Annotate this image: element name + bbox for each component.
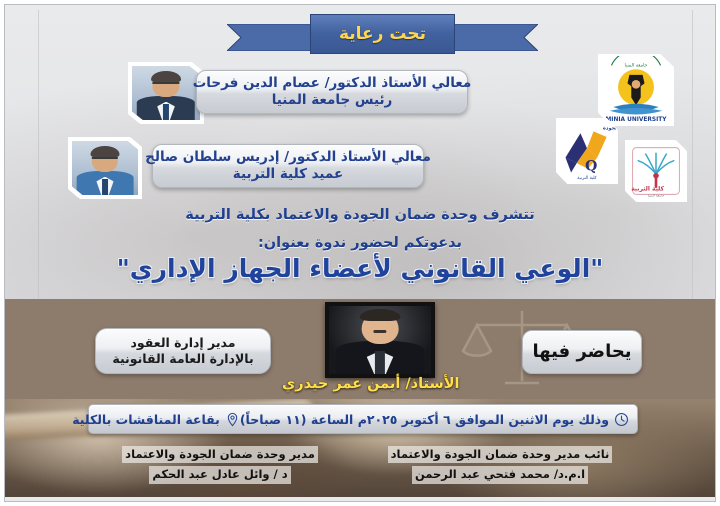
svg-text:وحدة الجودة: وحدة الجودة	[603, 125, 616, 131]
portrait-tie	[102, 179, 108, 195]
speaker-role-line-2: بالإدارة العامة القانونية	[112, 351, 253, 367]
event-venue-text: بقاعة المناقشات بالكلية	[72, 412, 220, 427]
signature-title-deputy: نائب مدير وحدة ضمان الجودة والاعتماد	[388, 446, 613, 463]
lecturer-label: يحاضر فيها	[532, 341, 631, 364]
patron-title-dean: عميد كلية التربية	[233, 166, 343, 183]
svg-text:كلية التربية: كلية التربية	[631, 186, 664, 193]
event-details-bar: وذلك يوم الاثنين الموافق ٦ أكتوبر ٢٠٢٥م …	[88, 404, 638, 434]
invitation-line-2: بدعوتكم لحضور ندوة بعنوان:	[110, 230, 610, 258]
portrait-image	[72, 141, 138, 195]
faculty-of-education-logo: كلية التربية جامعة المنيا	[625, 140, 687, 202]
seminar-poster: تحت رعاية معالي الأستاذ الدكتور/ عصام ال…	[0, 0, 720, 506]
svg-text:جامعة المنيا: جامعة المنيا	[648, 194, 664, 198]
portrait-image	[132, 66, 200, 120]
speaker-mustache	[373, 330, 386, 333]
signature-deputy-director: نائب مدير وحدة ضمان الجودة والاعتماد ا.م…	[385, 443, 615, 484]
svg-text:Q: Q	[585, 159, 597, 175]
portrait-glasses	[152, 82, 179, 86]
signature-title-director: مدير وحدة ضمان الجودة والاعتماد	[122, 446, 318, 463]
patron-plate-dean: معالي الأستاذ الدكتور/ إدريس سلطان صالح …	[152, 144, 424, 188]
seminar-title: "الوعي القانوني لأعضاء الجهاز الإداري"	[60, 255, 660, 283]
speaker-name: الأستاذ/ أيمن عمر حيدري	[282, 376, 532, 392]
patronage-ribbon: تحت رعاية	[290, 14, 475, 56]
clock-icon	[614, 412, 629, 427]
invitation-text: تتشرف وحدة ضمان الجودة والاعتماد بكلية ا…	[110, 202, 610, 257]
signature-name-director: د / وائل عادل عبد الحكم	[149, 466, 290, 483]
quality-assurance-unit-logo: وحدة الجودة Q كلية التربية	[556, 118, 618, 184]
speaker-hair	[360, 309, 401, 321]
event-date-text: وذلك يوم الاثنين الموافق ٦ أكتوبر ٢٠٢٥م …	[240, 412, 609, 427]
date-segment: وذلك يوم الاثنين الموافق ٦ أكتوبر ٢٠٢٥م …	[240, 412, 629, 427]
patron-title-president: رئيس جامعة المنيا	[272, 92, 393, 109]
speaker-photo-ayman-omar-haidary	[325, 302, 435, 378]
svg-text:كلية التربية: كلية التربية	[577, 175, 597, 181]
svg-text:MINIA UNIVERSITY: MINIA UNIVERSITY	[605, 117, 667, 123]
minia-university-emblem: جامعة المنيا MINIA UNIVERSITY	[600, 56, 672, 124]
signature-director: مدير وحدة ضمان الجودة والاعتماد د / وائل…	[105, 443, 335, 484]
portrait-idris-sultan-saleh	[68, 137, 142, 199]
patronage-ribbon-center: تحت رعاية	[310, 14, 455, 54]
patron-name-dean: معالي الأستاذ الدكتور/ إدريس سلطان صالح	[145, 149, 431, 166]
signature-name-deputy: ا.م.د/ محمد فتحي عبد الرحمن	[412, 466, 588, 483]
minia-university-logo: جامعة المنيا MINIA UNIVERSITY	[598, 54, 674, 126]
faculty-education-emblem: كلية التربية جامعة المنيا	[627, 142, 685, 200]
lecturer-label-plate: يحاضر فيها	[522, 330, 642, 374]
portrait-glasses	[92, 157, 118, 161]
speaker-role-line-1: مدير إدارة العقود	[131, 335, 236, 351]
portrait-essam-eldin-farhat	[128, 62, 204, 124]
patron-plate-president: معالي الأستاذ الدكتور/ عصام الدين فرحات …	[196, 70, 468, 114]
speaker-photo-image	[329, 306, 431, 374]
patronage-label: تحت رعاية	[339, 24, 426, 44]
patron-name-president: معالي الأستاذ الدكتور/ عصام الدين فرحات	[193, 75, 472, 92]
venue-segment: بقاعة المناقشات بالكلية	[72, 412, 240, 427]
svg-text:جامعة المنيا: جامعة المنيا	[625, 62, 648, 68]
speaker-tie	[375, 351, 385, 374]
speaker-role-plate: مدير إدارة العقود بالإدارة العامة القانو…	[95, 328, 271, 374]
portrait-tie	[163, 104, 169, 120]
location-pin-icon	[225, 412, 240, 427]
invitation-line-1: تتشرف وحدة ضمان الجودة والاعتماد بكلية ا…	[110, 202, 610, 230]
quality-unit-emblem: وحدة الجودة Q كلية التربية	[558, 120, 616, 182]
